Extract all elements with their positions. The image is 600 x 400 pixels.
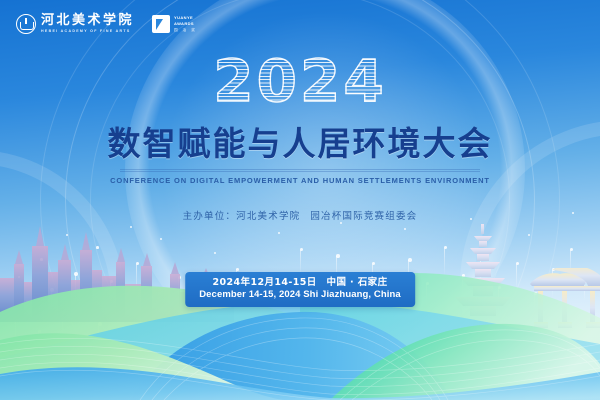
page-title-cn: 数智赋能与人居环境大会: [0, 126, 600, 162]
particle-dot: [404, 228, 406, 230]
academy-seal-icon: [16, 14, 36, 34]
year-heading-wrap: 2024: [0, 52, 600, 110]
logo-yuanye-awards[interactable]: YUANYE AWARDS 园 冶 奖: [152, 15, 197, 33]
header-logos: 河北美术学院 HEBEI ACADEMY OF FINE ARTS YUANYE…: [16, 14, 197, 34]
hills-layer: [0, 240, 600, 400]
date-badge-en: December 14-15, 2024 Shi Jiazhuang, Chin…: [199, 289, 401, 301]
organizer-name-1: 河北美术学院: [236, 211, 300, 222]
organizer-name-2: 园冶杯国际竞赛组委会: [310, 211, 417, 222]
particle-dot: [528, 234, 530, 236]
logo-yuanye-en-line1: YUANYE: [174, 16, 197, 21]
year-heading: 2024: [213, 52, 386, 110]
date-badge-cn: 2024年12月14-15日 中国 · 石家庄: [199, 277, 401, 289]
organizer-label: 主办单位：: [183, 211, 237, 222]
title-divider: [120, 169, 480, 173]
title-block: 数智赋能与人居环境大会 CONFERENCE ON DIGITAL EMPOWE…: [0, 126, 600, 185]
yuanye-mark-icon: [152, 15, 170, 33]
organizer-line: 主办单位：河北美术学院园冶杯国际竞赛组委会: [0, 208, 600, 222]
logo-hebei-academy[interactable]: 河北美术学院 HEBEI ACADEMY OF FINE ARTS: [16, 14, 134, 34]
logo-yuanye-cn: 园 冶 奖: [174, 28, 197, 33]
conference-poster: 河北美术学院 HEBEI ACADEMY OF FINE ARTS YUANYE…: [0, 0, 600, 400]
logo-hebei-academy-en: HEBEI ACADEMY OF FINE ARTS: [41, 29, 134, 34]
page-title-en: CONFERENCE ON DIGITAL EMPOWERMENT AND HU…: [0, 176, 600, 185]
logo-yuanye-en-line2: AWARDS: [174, 22, 197, 27]
logo-hebei-academy-cn: 河北美术学院: [41, 14, 134, 28]
particle-dot: [278, 232, 280, 234]
particle-dot: [340, 222, 342, 224]
date-badge: 2024年12月14-15日 中国 · 石家庄 December 14-15, …: [185, 272, 415, 307]
